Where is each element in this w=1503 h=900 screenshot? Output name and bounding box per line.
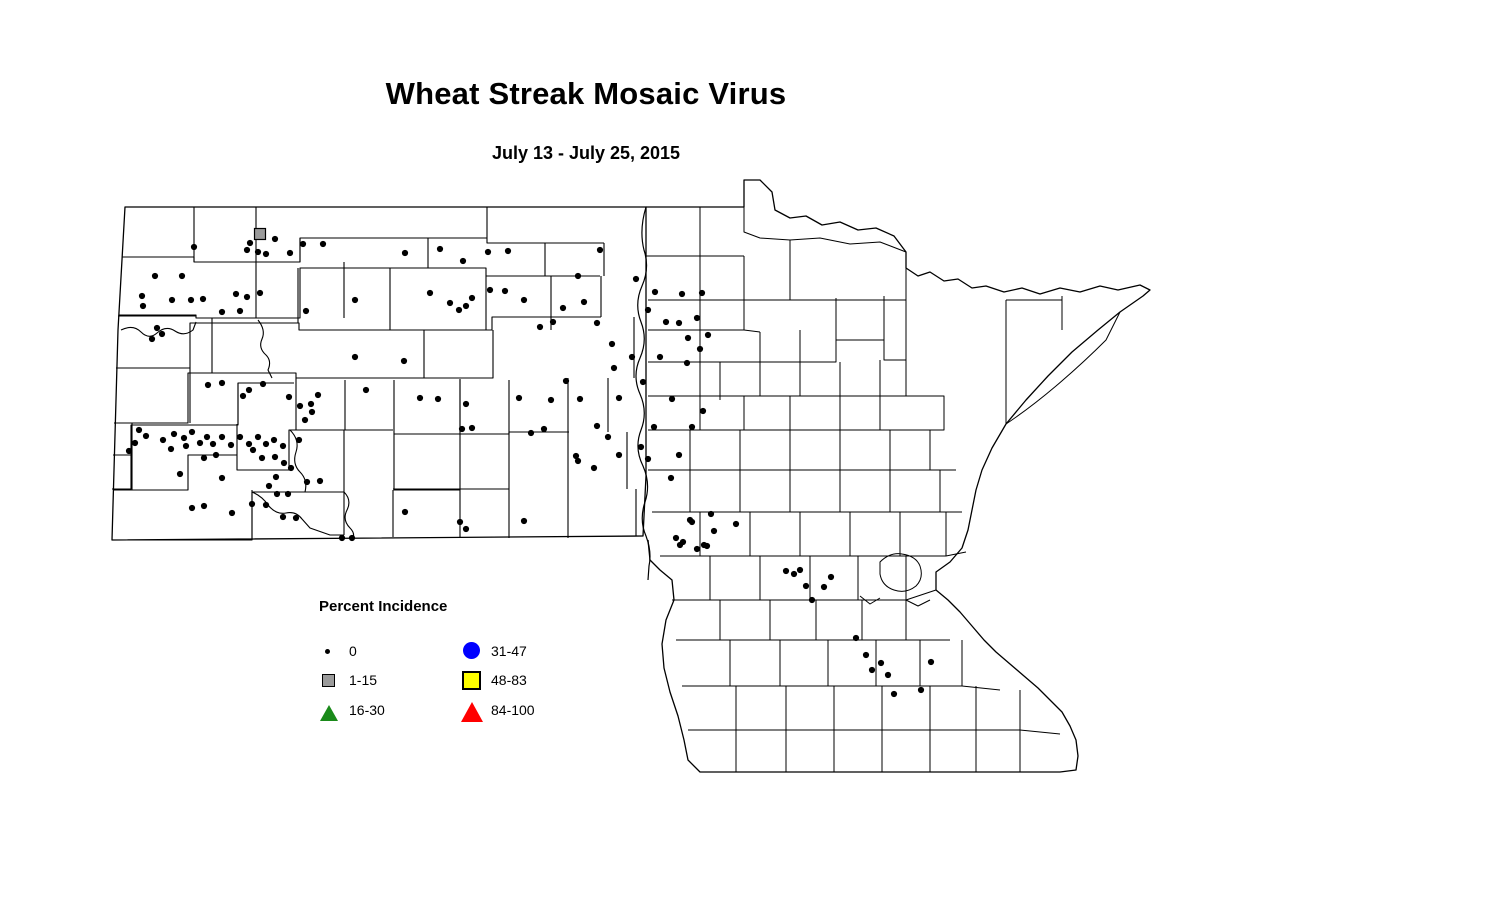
sample-point: [189, 429, 195, 435]
sample-point: [213, 452, 219, 458]
sample-point: [550, 319, 556, 325]
sample-point: [537, 324, 543, 330]
sample-point: [684, 360, 690, 366]
sample-point: [447, 300, 453, 306]
sample-point: [863, 652, 869, 658]
sample-point: [668, 475, 674, 481]
sample-point: [528, 430, 534, 436]
sample-point: [657, 354, 663, 360]
sample-point: [257, 290, 263, 296]
sample-point: [339, 535, 345, 541]
sample-point: [629, 354, 635, 360]
legend-symbol-gray-square-icon: [319, 669, 341, 691]
sample-point: [708, 511, 714, 517]
sample-point: [640, 379, 646, 385]
sample-point: [139, 293, 145, 299]
sample-point: [469, 295, 475, 301]
sample-point: [711, 528, 717, 534]
sample-point: [159, 331, 165, 337]
sample-point: [280, 514, 286, 520]
sample-point: [594, 423, 600, 429]
sample-point: [616, 395, 622, 401]
sample-point: [149, 336, 155, 342]
sample-point: [575, 273, 581, 279]
legend-symbol-yellow-square-icon: [461, 669, 483, 691]
red-river-boundary: [636, 207, 650, 580]
sample-point: [246, 441, 252, 447]
sample-point: [285, 491, 291, 497]
sample-point: [200, 296, 206, 302]
sample-point: [302, 417, 308, 423]
sample-point: [263, 502, 269, 508]
legend-label-16-30: 16-30: [349, 702, 385, 718]
sample-point: [505, 248, 511, 254]
sample-point: [247, 240, 253, 246]
sample-point: [303, 308, 309, 314]
sample-point: [288, 465, 294, 471]
sample-point: [701, 542, 707, 548]
sample-point: [645, 307, 651, 313]
sample-point: [287, 250, 293, 256]
sample-point: [560, 305, 566, 311]
sample-point: [463, 303, 469, 309]
sample-point: [699, 290, 705, 296]
sample-point: [237, 308, 243, 314]
sample-point: [463, 401, 469, 407]
map-canvas: [0, 0, 1503, 900]
sample-point: [140, 303, 146, 309]
sample-point: [229, 510, 235, 516]
sample-point: [700, 408, 706, 414]
sample-point: [680, 539, 686, 545]
sample-point: [548, 397, 554, 403]
sample-point: [240, 393, 246, 399]
sample-point: [126, 448, 132, 454]
sample-point: [437, 246, 443, 252]
legend-label-31-47: 31-47: [491, 643, 527, 659]
sample-point: [320, 241, 326, 247]
sample-point: [828, 574, 834, 580]
sample-point: [181, 435, 187, 441]
sample-point: [249, 501, 255, 507]
sample-point: [521, 518, 527, 524]
sample-point: [136, 427, 142, 433]
sample-point: [676, 452, 682, 458]
sample-point: [297, 403, 303, 409]
sample-point: [308, 401, 314, 407]
sample-point: [280, 443, 286, 449]
sample-point: [255, 229, 266, 240]
sample-point: [296, 437, 302, 443]
sample-point: [177, 471, 183, 477]
sample-point: [219, 380, 225, 386]
sample-point: [266, 483, 272, 489]
sample-point: [402, 250, 408, 256]
sample-point: [300, 241, 306, 247]
legend-symbol-black-dot-icon: [319, 640, 341, 662]
sample-point: [597, 247, 603, 253]
sample-point: [676, 320, 682, 326]
sample-point: [469, 425, 475, 431]
sample-point: [633, 276, 639, 282]
sample-point: [694, 315, 700, 321]
sample-point: [189, 505, 195, 511]
sample-point: [697, 346, 703, 352]
sample-point: [197, 440, 203, 446]
sample-point: [188, 297, 194, 303]
sample-point: [459, 426, 465, 432]
legend-label-84-100: 84-100: [491, 702, 535, 718]
sample-point: [154, 325, 160, 331]
sample-point: [463, 526, 469, 532]
sample-point: [609, 341, 615, 347]
sample-point: [783, 568, 789, 574]
sample-point: [255, 249, 261, 255]
sample-point: [402, 509, 408, 515]
sample-point: [689, 424, 695, 430]
legend-symbol-green-triangle-icon: [319, 699, 341, 721]
sample-point: [349, 535, 355, 541]
sample-point: [228, 442, 234, 448]
sample-point: [417, 395, 423, 401]
map-svg: [0, 0, 1503, 900]
sample-point: [309, 409, 315, 415]
sample-point: [281, 460, 287, 466]
sample-point: [457, 519, 463, 525]
sample-point: [611, 365, 617, 371]
sample-point: [204, 434, 210, 440]
sample-point: [183, 443, 189, 449]
sample-point: [502, 288, 508, 294]
sample-point: [401, 358, 407, 364]
sample-point: [821, 584, 827, 590]
sample-point: [577, 396, 583, 402]
sample-point: [485, 249, 491, 255]
sample-point: [928, 659, 934, 665]
sample-point: [541, 426, 547, 432]
sample-point: [591, 465, 597, 471]
sample-point: [652, 289, 658, 295]
sample-point: [304, 479, 310, 485]
sample-point: [521, 297, 527, 303]
sample-point: [219, 309, 225, 315]
sample-point: [293, 515, 299, 521]
sample-point: [460, 258, 466, 264]
sample-point: [663, 319, 669, 325]
sample-point: [160, 437, 166, 443]
sample-point: [168, 446, 174, 452]
legend-label-48-83: 48-83: [491, 672, 527, 688]
sample-point: [219, 434, 225, 440]
sample-point: [263, 251, 269, 257]
sample-point: [638, 444, 644, 450]
sample-point: [244, 294, 250, 300]
sample-point: [317, 478, 323, 484]
sample-point: [918, 687, 924, 693]
sample-point: [286, 394, 292, 400]
sample-point: [616, 452, 622, 458]
sample-point: [263, 441, 269, 447]
sample-point: [575, 458, 581, 464]
legend-title: Percent Incidence: [319, 598, 447, 615]
sample-point: [435, 396, 441, 402]
legend-label-1-15: 1-15: [349, 672, 377, 688]
sample-point: [191, 244, 197, 250]
sample-point: [869, 667, 875, 673]
sample-point: [685, 335, 691, 341]
sample-point: [259, 455, 265, 461]
legend-symbol-red-triangle-icon: [461, 699, 483, 721]
sample-point: [673, 535, 679, 541]
sample-point: [272, 454, 278, 460]
sample-point: [516, 395, 522, 401]
sample-point: [352, 297, 358, 303]
sample-point: [791, 571, 797, 577]
sample-point: [605, 434, 611, 440]
sample-point: [363, 387, 369, 393]
sample-point: [809, 597, 815, 603]
sample-point: [803, 583, 809, 589]
sample-point: [694, 546, 700, 552]
sample-point: [255, 434, 261, 440]
sample-point: [315, 392, 321, 398]
sample-point: [456, 307, 462, 313]
sample-point: [260, 381, 266, 387]
sample-point: [237, 434, 243, 440]
sample-point: [645, 456, 651, 462]
sample-point: [427, 290, 433, 296]
legend-symbol-blue-circle-icon: [461, 640, 483, 662]
sample-point: [878, 660, 884, 666]
sample-point: [733, 521, 739, 527]
sample-point: [152, 273, 158, 279]
sample-point: [169, 297, 175, 303]
sample-point: [233, 291, 239, 297]
legend: Percent Incidence 0 1-15 16-30 31-47 48-…: [319, 598, 579, 730]
county-boundaries: [112, 207, 650, 580]
sample-point: [274, 491, 280, 497]
sample-point: [246, 387, 252, 393]
legend-label-0: 0: [349, 643, 357, 659]
sample-point: [244, 247, 250, 253]
sample-point: [594, 320, 600, 326]
sample-point: [651, 424, 657, 430]
sample-point: [487, 287, 493, 293]
sample-point: [581, 299, 587, 305]
sample-point: [891, 691, 897, 697]
sample-point: [853, 635, 859, 641]
sample-point: [669, 396, 675, 402]
sample-point: [797, 567, 803, 573]
sample-point: [171, 431, 177, 437]
sample-point: [679, 291, 685, 297]
sample-point: [272, 236, 278, 242]
sample-point: [689, 519, 695, 525]
sample-point: [132, 440, 138, 446]
sample-point: [563, 378, 569, 384]
mn-state-outline: [646, 180, 1150, 772]
sample-point: [179, 273, 185, 279]
sample-point: [201, 503, 207, 509]
sample-point: [273, 474, 279, 480]
sample-point: [885, 672, 891, 678]
sample-point: [201, 455, 207, 461]
sample-point: [210, 441, 216, 447]
sample-point: [250, 447, 256, 453]
sample-point: [271, 437, 277, 443]
sample-point: [205, 382, 211, 388]
map-page: Wheat Streak Mosaic Virus July 13 - July…: [0, 0, 1503, 900]
sample-point: [352, 354, 358, 360]
sample-point: [219, 475, 225, 481]
sample-point: [143, 433, 149, 439]
sample-point: [705, 332, 711, 338]
